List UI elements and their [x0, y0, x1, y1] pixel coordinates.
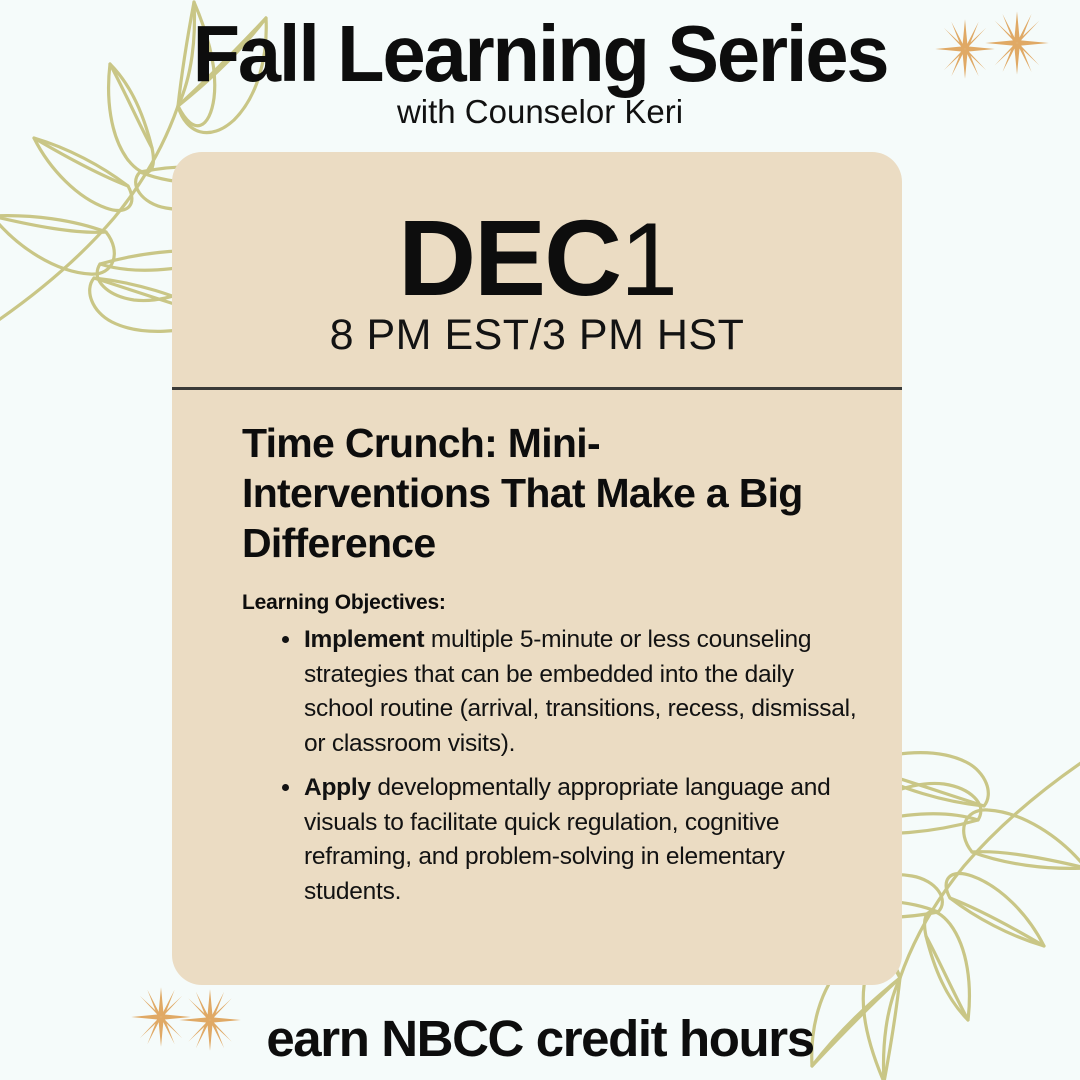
event-card: DEC1 8 PM EST/3 PM HST Time Crunch: Mini…	[172, 152, 902, 985]
objective-text: developmentally appropriate language and…	[304, 774, 831, 905]
objective-lead: Implement	[304, 626, 424, 653]
event-details: Time Crunch: Mini-Interventions That Mak…	[172, 390, 902, 909]
list-item: Apply developmentally appropriate langua…	[282, 771, 860, 909]
objective-lead: Apply	[304, 774, 371, 801]
poster-footer: earn NBCC credit hours	[0, 1013, 1080, 1064]
poster-canvas: Fall Learning Series with Counselor Keri…	[0, 0, 1080, 1080]
event-month: DEC	[398, 197, 620, 318]
objectives-heading: Learning Objectives:	[242, 590, 860, 615]
session-title: Time Crunch: Mini-Interventions That Mak…	[242, 418, 842, 568]
credit-hours-text: earn NBCC credit hours	[0, 1013, 1080, 1064]
list-item: Implement multiple 5-minute or less coun…	[282, 623, 860, 761]
event-time: 8 PM EST/3 PM HST	[172, 314, 902, 357]
event-date-block: DEC1 8 PM EST/3 PM HST	[172, 152, 902, 357]
page-subtitle: with Counselor Keri	[0, 95, 1080, 128]
event-day: 1	[620, 202, 676, 318]
objectives-list: Implement multiple 5-minute or less coun…	[242, 623, 860, 909]
page-title: Fall Learning Series	[16, 16, 1064, 93]
poster-header: Fall Learning Series with Counselor Keri	[0, 16, 1080, 128]
event-date: DEC1	[172, 204, 902, 312]
